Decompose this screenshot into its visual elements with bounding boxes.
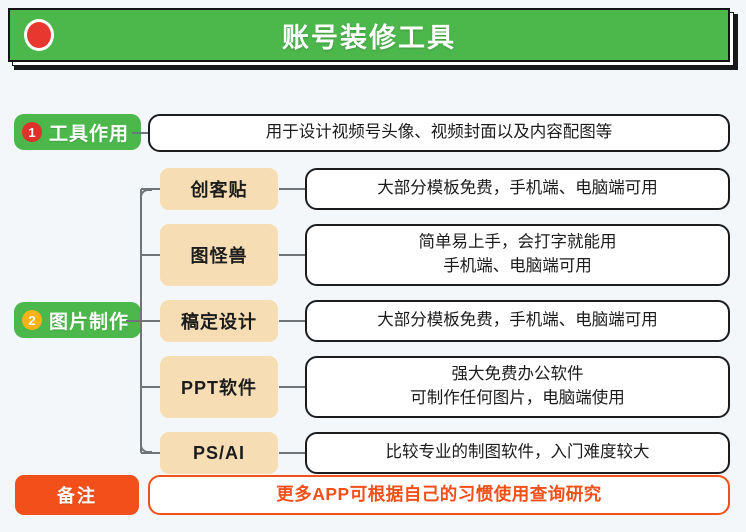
card-chuangketie: 大部分模板免费，手机端、电脑端可用 [305, 168, 730, 210]
app-tag-ps-ai[interactable]: PS/AI [160, 432, 278, 474]
red-circle-icon [24, 19, 54, 51]
banner-bar: 账号装修工具 [8, 8, 730, 62]
app-tag-ppt-software[interactable]: PPT软件 [160, 356, 278, 418]
app-tag-label: 图怪兽 [191, 242, 248, 268]
connector-spoke-1 [141, 188, 161, 190]
app-tag-label: 稿定设计 [181, 308, 257, 334]
connector-spoke-5 [141, 452, 161, 454]
card-tool-purpose: 用于设计视频号头像、视频封面以及内容配图等 [148, 114, 730, 152]
section-label-text-2: 图片制作 [49, 307, 129, 334]
section-label-text-1: 工具作用 [49, 119, 129, 146]
card-ppt-software: 强大免费办公软件 可制作任何图片，电脑端使用 [305, 356, 730, 418]
card-text: 强大免费办公软件 可制作任何图片，电脑端使用 [410, 363, 625, 411]
card-tuguaishou: 简单易上手，会打字就能用 手机端、电脑端可用 [305, 224, 730, 286]
app-tag-tuguaishou[interactable]: 图怪兽 [160, 224, 278, 286]
connector-spoke-3 [141, 320, 161, 322]
card-text: 简单易上手，会打字就能用 手机端、电脑端可用 [419, 231, 617, 279]
app-tag-chuangketie[interactable]: 创客贴 [160, 168, 278, 210]
header-banner: 账号装修工具 [8, 8, 738, 70]
card-text-tool-purpose: 用于设计视频号头像、视频封面以及内容配图等 [266, 121, 613, 145]
card-text: 大部分模板免费，手机端、电脑端可用 [377, 177, 658, 201]
connector-spoke-4 [141, 386, 161, 388]
connector-tag-card-3 [279, 320, 306, 322]
card-ps-ai: 比较专业的制图软件，入门难度较大 [305, 432, 730, 474]
app-tag-label: PS/AI [193, 443, 245, 464]
app-tag-label: PPT软件 [181, 374, 257, 400]
card-text-note: 更多APP可根据自己的习惯使用查询研究 [276, 482, 601, 507]
card-gaodingsheji: 大部分模板免费，手机端、电脑端可用 [305, 300, 730, 342]
page-title: 账号装修工具 [282, 16, 456, 55]
connector-tag-card-4 [279, 386, 306, 388]
connector-spoke-2 [141, 254, 161, 256]
connector-tag-card-2 [279, 254, 306, 256]
connector-spine-cap-top [140, 189, 152, 201]
app-tag-label: 创客贴 [191, 176, 248, 202]
mindmap-body: 1 工具作用 用于设计视频号头像、视频封面以及内容配图等 2 图片制作 创客贴 … [0, 78, 746, 532]
app-tag-gaodingsheji[interactable]: 稿定设计 [160, 300, 278, 342]
note-badge: 备注 [15, 475, 139, 515]
section-number-badge-2: 2 [22, 310, 42, 330]
card-text: 比较专业的制图软件，入门难度较大 [386, 441, 650, 465]
card-text: 大部分模板免费，手机端、电脑端可用 [377, 309, 658, 333]
card-note: 更多APP可根据自己的习惯使用查询研究 [148, 475, 730, 515]
connector-tag-card-1 [279, 188, 306, 190]
note-badge-label: 备注 [57, 482, 97, 508]
connector-tag-card-5 [279, 452, 306, 454]
section-label-image-making[interactable]: 2 图片制作 [14, 302, 141, 338]
section-label-tool-purpose[interactable]: 1 工具作用 [14, 114, 141, 150]
section-number-badge-1: 1 [22, 122, 42, 142]
